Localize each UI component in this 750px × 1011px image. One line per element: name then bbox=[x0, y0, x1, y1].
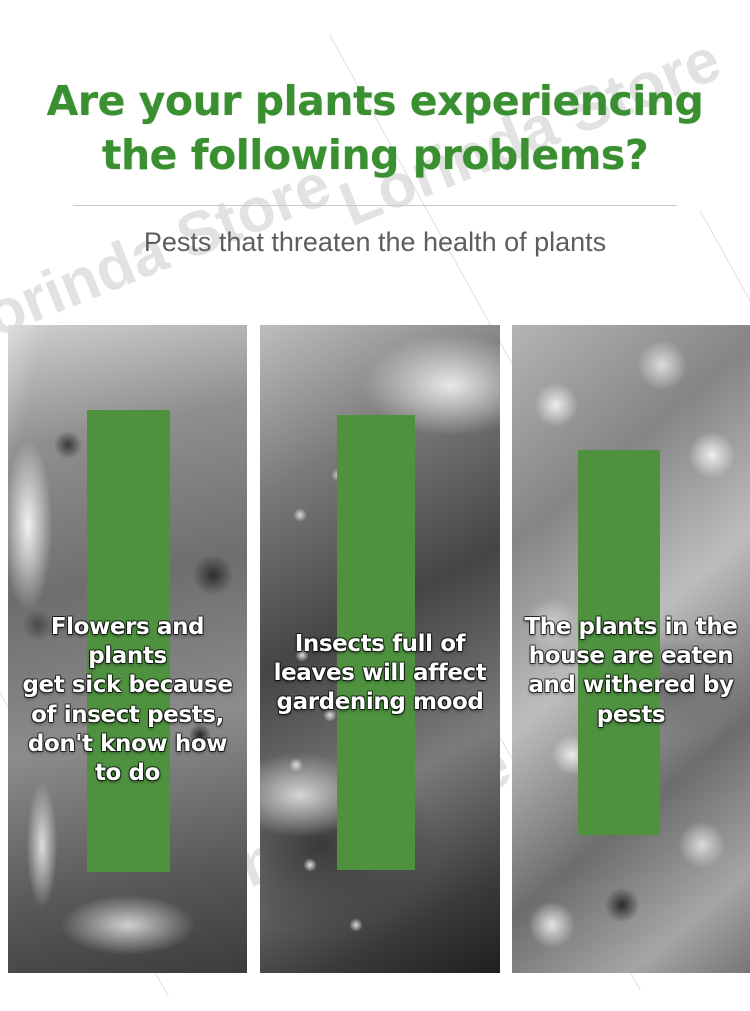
problem-caption-2: Insects full of leaves will affect garde… bbox=[260, 630, 500, 718]
problem-panel-3: The plants in the house are eaten and wi… bbox=[512, 325, 750, 973]
page-subtitle: Pests that threaten the health of plants bbox=[0, 227, 750, 258]
problem-caption-1: Flowers and plants get sick because of i… bbox=[8, 613, 247, 788]
page-header: Are your plants experiencing the followi… bbox=[0, 0, 750, 258]
problem-panel-2: Insects full of leaves will affect garde… bbox=[260, 325, 500, 973]
page-title: Are your plants experiencing the followi… bbox=[24, 74, 726, 182]
page-title-line-2: the following problems? bbox=[102, 131, 648, 179]
header-divider bbox=[73, 205, 677, 206]
page-title-line-1: Are your plants experiencing bbox=[47, 77, 704, 125]
problem-panels: Flowers and plants get sick because of i… bbox=[0, 325, 750, 973]
problem-panel-1: Flowers and plants get sick because of i… bbox=[8, 325, 247, 973]
problem-caption-3: The plants in the house are eaten and wi… bbox=[512, 613, 750, 730]
